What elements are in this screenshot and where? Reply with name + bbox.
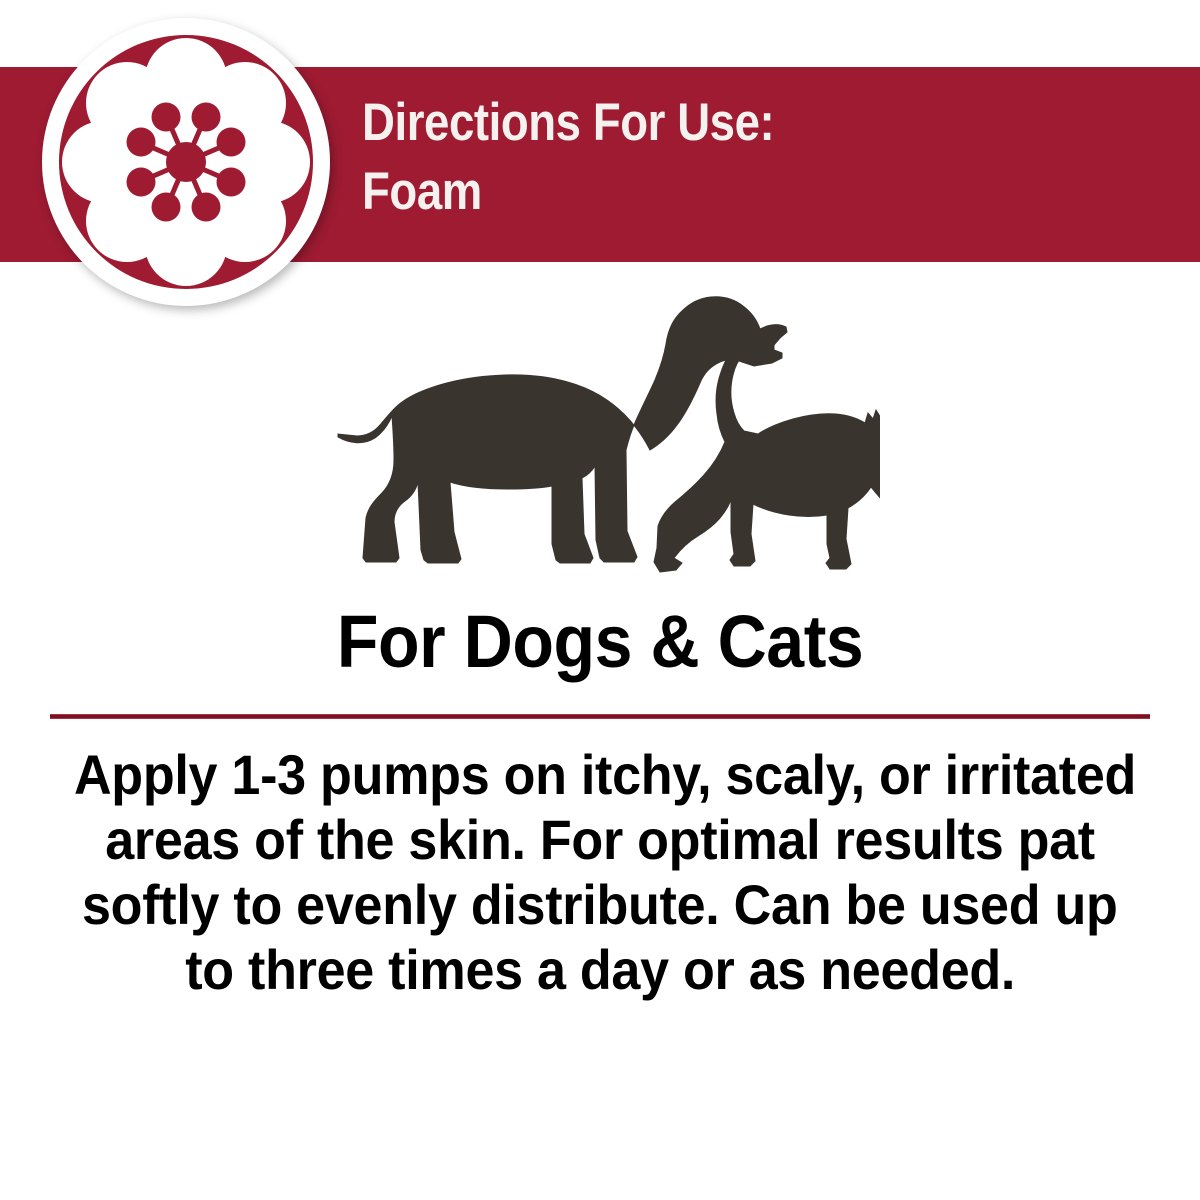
flower-molecule-badge-icon [40, 16, 332, 308]
instructions-line-text: to three times a day or as needed. [185, 937, 1015, 1002]
pets-illustration [330, 282, 880, 574]
header-title-block: Directions For Use: Foam [362, 88, 1062, 226]
instructions-paragraph: Apply 1-3 pumps on itchy, scaly, or irri… [34, 742, 1166, 1002]
header-title-line-2: Foam [362, 157, 964, 226]
header-title-line-1: Directions For Use: [362, 88, 964, 157]
page-subtitle: For Dogs & Cats [0, 602, 1200, 682]
instructions-line: Apply 1-3 pumps on itchy, scaly, or irri… [34, 742, 1166, 807]
instructions-line: softly to evenly distribute. Can be used… [34, 872, 1166, 937]
instructions-line: areas of the skin. For optimal results p… [34, 807, 1166, 872]
instructions-line-text: Apply 1-3 pumps on itchy, scaly, or irri… [74, 742, 1136, 807]
directions-for-use-card: Directions For Use: Foam [0, 0, 1200, 1200]
instructions-line: to three times a day or as needed. [34, 937, 1166, 1002]
page-subtitle-text: For Dogs & Cats [337, 602, 863, 682]
instructions-line-text: softly to evenly distribute. Can be used… [82, 872, 1118, 937]
section-divider [50, 714, 1150, 719]
instructions-line-text: areas of the skin. For optimal results p… [105, 807, 1095, 872]
